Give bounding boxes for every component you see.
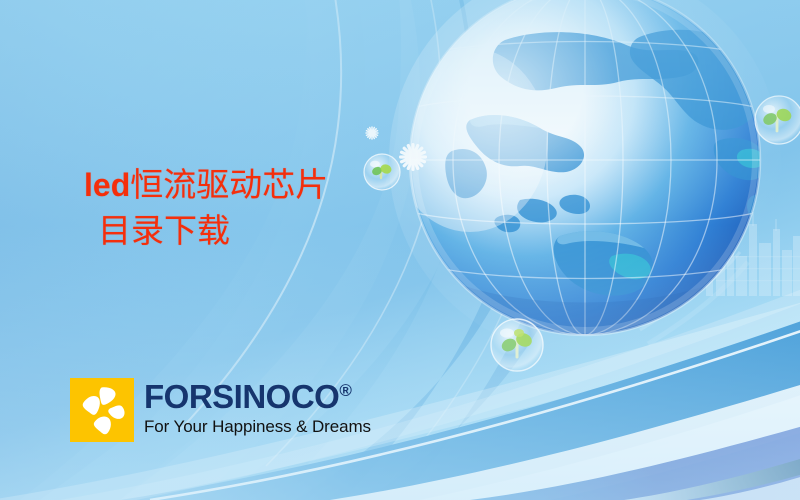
headline-line-1: led恒流驱动芯片: [84, 163, 484, 210]
logo-company-name-text: FORSINOCO: [144, 378, 339, 415]
headline-text: led恒流驱动芯片 目录下载: [84, 163, 484, 255]
four-petal-pinwheel-icon: [70, 378, 134, 442]
headline-line-2: 目录下载: [84, 210, 484, 256]
logo-company-name: FORSINOCO®: [144, 380, 371, 413]
logo-wordmark: FORSINOCO® For Your Happiness & Dreams: [144, 378, 371, 435]
brand-logo: FORSINOCO® For Your Happiness & Dreams: [70, 378, 371, 442]
slide-canvas: led恒流驱动芯片 目录下载 FORSINOCO® For Your Happi…: [0, 0, 800, 500]
headline-latin: led: [84, 167, 130, 203]
logo-tagline: For Your Happiness & Dreams: [144, 418, 371, 435]
registered-trademark-icon: ®: [339, 381, 351, 400]
headline-cjk: 恒流驱动芯片: [130, 168, 328, 204]
